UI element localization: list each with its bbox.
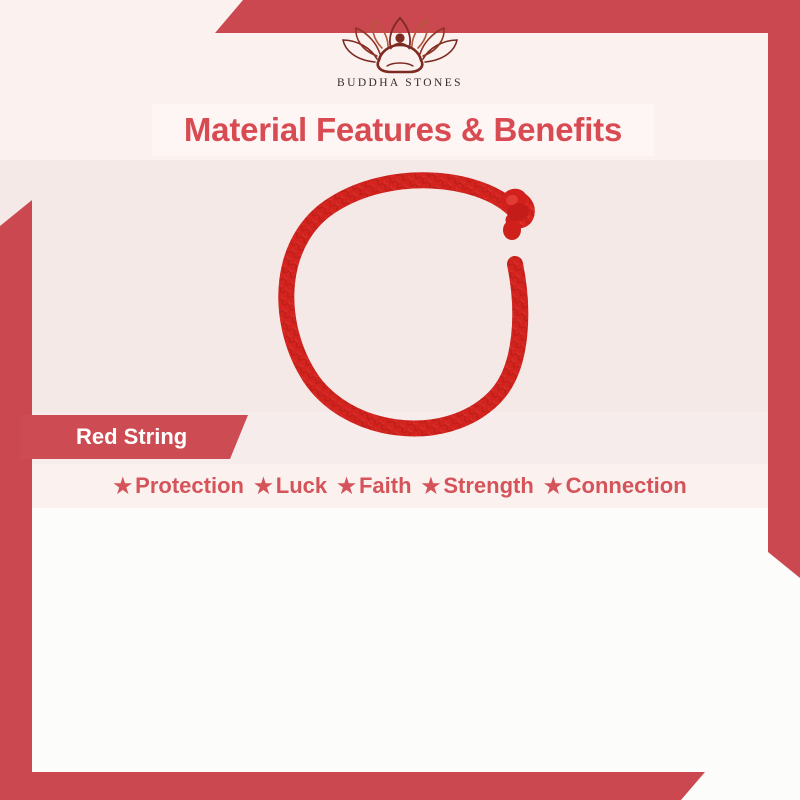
benefit-item-luck: ★ Luck [254, 473, 327, 499]
red-braided-cord-bracelet [272, 168, 562, 458]
star-icon: ★ [544, 474, 563, 499]
benefit-item-connection: ★ Connection [544, 473, 687, 499]
benefit-label: Connection [566, 473, 687, 499]
poster-root: BUDDHA STONES Material Features & Benefi… [0, 0, 800, 800]
page-title: Material Features & Benefits [184, 111, 622, 149]
benefit-label: Luck [276, 473, 327, 499]
benefit-item-protection: ★ Protection [113, 473, 244, 499]
description-background [0, 508, 800, 800]
star-icon: ★ [337, 474, 356, 499]
benefit-label: Protection [135, 473, 244, 499]
decorative-strip-left [0, 200, 32, 800]
benefits-list: ★ Protection ★ Luck ★ Faith ★ Strength ★… [0, 464, 800, 508]
product-label-text: Red String [20, 424, 187, 450]
benefit-item-faith: ★ Faith [337, 473, 411, 499]
star-icon: ★ [422, 474, 441, 499]
benefit-item-strength: ★ Strength [422, 473, 534, 499]
star-icon: ★ [254, 474, 273, 499]
title-banner: Material Features & Benefits [152, 104, 654, 156]
brand-name: BUDDHA STONES [337, 77, 463, 89]
lotus-meditation-icon [341, 12, 459, 74]
decorative-band-bottom [0, 772, 705, 800]
benefit-label: Faith [359, 473, 412, 499]
brand-logo: BUDDHA STONES [0, 12, 800, 89]
benefit-label: Strength [443, 473, 533, 499]
product-label-banner: Red String [20, 415, 248, 459]
star-icon: ★ [113, 474, 132, 499]
